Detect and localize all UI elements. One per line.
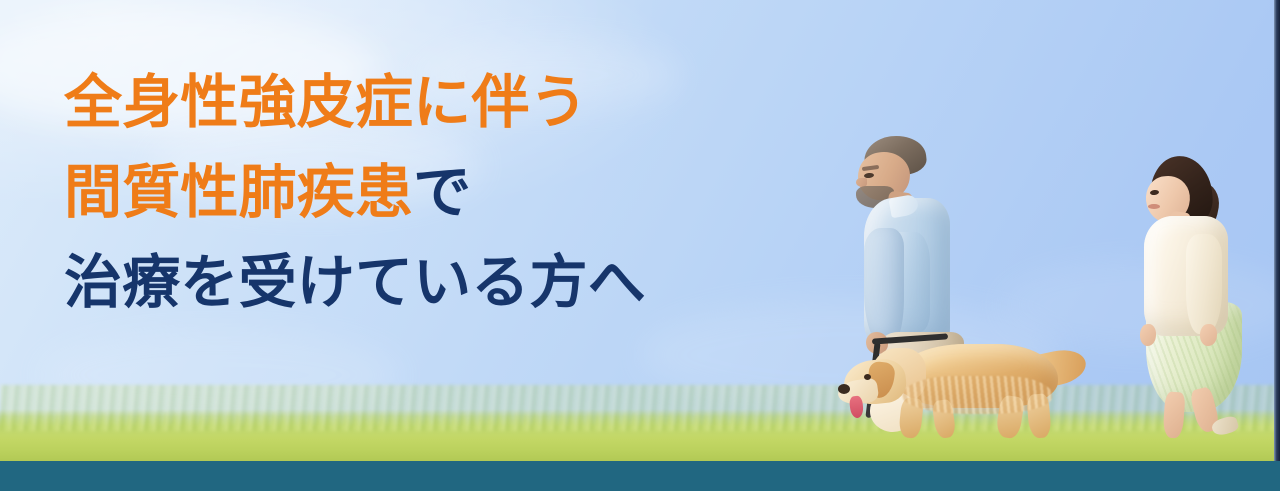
man-arm <box>864 228 904 344</box>
headline-line-1: 全身性強皮症に伴う <box>64 74 764 132</box>
woman-hand <box>1200 324 1217 346</box>
grass-field <box>0 409 1280 461</box>
dog-nose <box>838 384 850 394</box>
headline-line-2-orange-text: 間質性肺疾患 <box>64 160 413 225</box>
headline-line-3: 治療を受けている方へ <box>64 254 764 312</box>
woman-sleeve <box>1186 234 1222 334</box>
headline-block: 全身性強皮症に伴う 間質性肺疾患で 治療を受けている方へ <box>64 74 764 312</box>
headline-line-2-navy-text: で <box>413 160 471 225</box>
woman-figure <box>1128 156 1258 442</box>
hero-banner: 全身性強皮症に伴う 間質性肺疾患で 治療を受けている方へ <box>0 0 1280 491</box>
grass-texture <box>0 385 1280 431</box>
right-edge-strip <box>1274 0 1280 461</box>
woman-lips <box>1148 204 1160 209</box>
dog-eye <box>864 374 871 380</box>
dog-figure <box>842 336 1086 440</box>
woman-hand <box>1140 324 1156 346</box>
headline-line-3-text: 治療を受けている方へ <box>64 250 646 315</box>
dog-fur-texture <box>902 376 1052 414</box>
woman-leg <box>1162 391 1185 438</box>
headline-line-2: 間質性肺疾患で <box>64 164 764 222</box>
footer-bar <box>0 461 1280 491</box>
headline-line-1-text: 全身性強皮症に伴う <box>64 70 588 135</box>
